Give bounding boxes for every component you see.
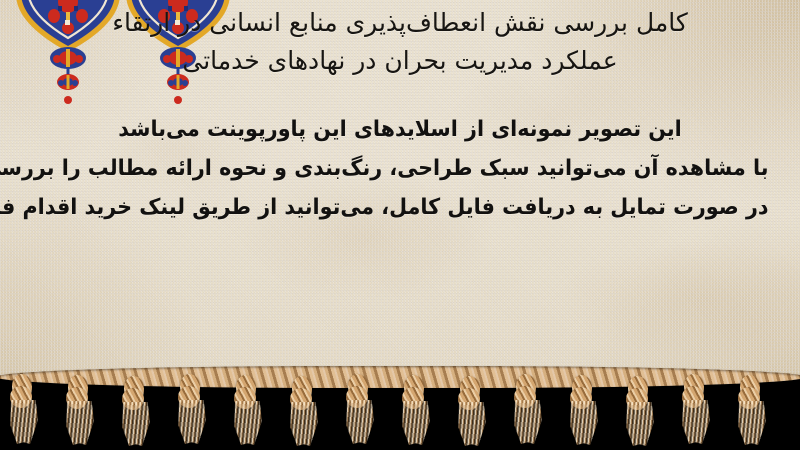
tassel bbox=[736, 375, 766, 445]
body-line-3: در صورت تمایل به دریافت فایل کامل، می‌تو… bbox=[32, 188, 769, 227]
slide-body: این تصویر نمونه‌ای از اسلایدهای این پاور… bbox=[0, 110, 800, 227]
tassel-skirt bbox=[232, 401, 262, 445]
tassel bbox=[120, 376, 150, 446]
tassel-skirt bbox=[624, 402, 654, 446]
tassel-fringe bbox=[0, 362, 800, 450]
tassel-skirt bbox=[680, 400, 710, 444]
slide-title: کامل بررسی نقش انعطاف‌پذیری منابع انسانی… bbox=[0, 4, 800, 80]
body-line-2: با مشاهده آن می‌توانید سبک طراحی، رنگ‌بن… bbox=[32, 149, 769, 188]
tassel-skirt bbox=[176, 400, 206, 444]
tassel bbox=[400, 375, 430, 445]
tassel bbox=[344, 374, 374, 444]
tassel-skirt bbox=[736, 401, 766, 445]
tassel-skirt bbox=[344, 400, 374, 444]
tassel-skirt bbox=[120, 402, 150, 446]
body-line-1: این تصویر نمونه‌ای از اسلایدهای این پاور… bbox=[32, 110, 769, 149]
title-line-1: کامل بررسی نقش انعطاف‌پذیری منابع انسانی… bbox=[10, 4, 790, 42]
tassel bbox=[288, 376, 318, 446]
tassel-skirt bbox=[568, 401, 598, 445]
tassel-skirt bbox=[456, 402, 486, 446]
presentation-slide: کامل بررسی نقش انعطاف‌پذیری منابع انسانی… bbox=[0, 0, 800, 450]
tassel bbox=[64, 375, 94, 445]
title-line-2: عملکرد مدیریت بحران در نهادهای خدماتی bbox=[10, 42, 790, 80]
tassel bbox=[456, 376, 486, 446]
tassel bbox=[8, 374, 38, 444]
tassel-skirt bbox=[400, 401, 430, 445]
tassel bbox=[232, 375, 262, 445]
tassel-skirt bbox=[512, 400, 542, 444]
tassel bbox=[568, 375, 598, 445]
tassel-skirt bbox=[288, 402, 318, 446]
tassel bbox=[680, 374, 710, 444]
tassel bbox=[512, 374, 542, 444]
tassel-skirt bbox=[8, 400, 38, 444]
tassel bbox=[176, 374, 206, 444]
tassel-skirt bbox=[64, 401, 94, 445]
tassel bbox=[624, 376, 654, 446]
